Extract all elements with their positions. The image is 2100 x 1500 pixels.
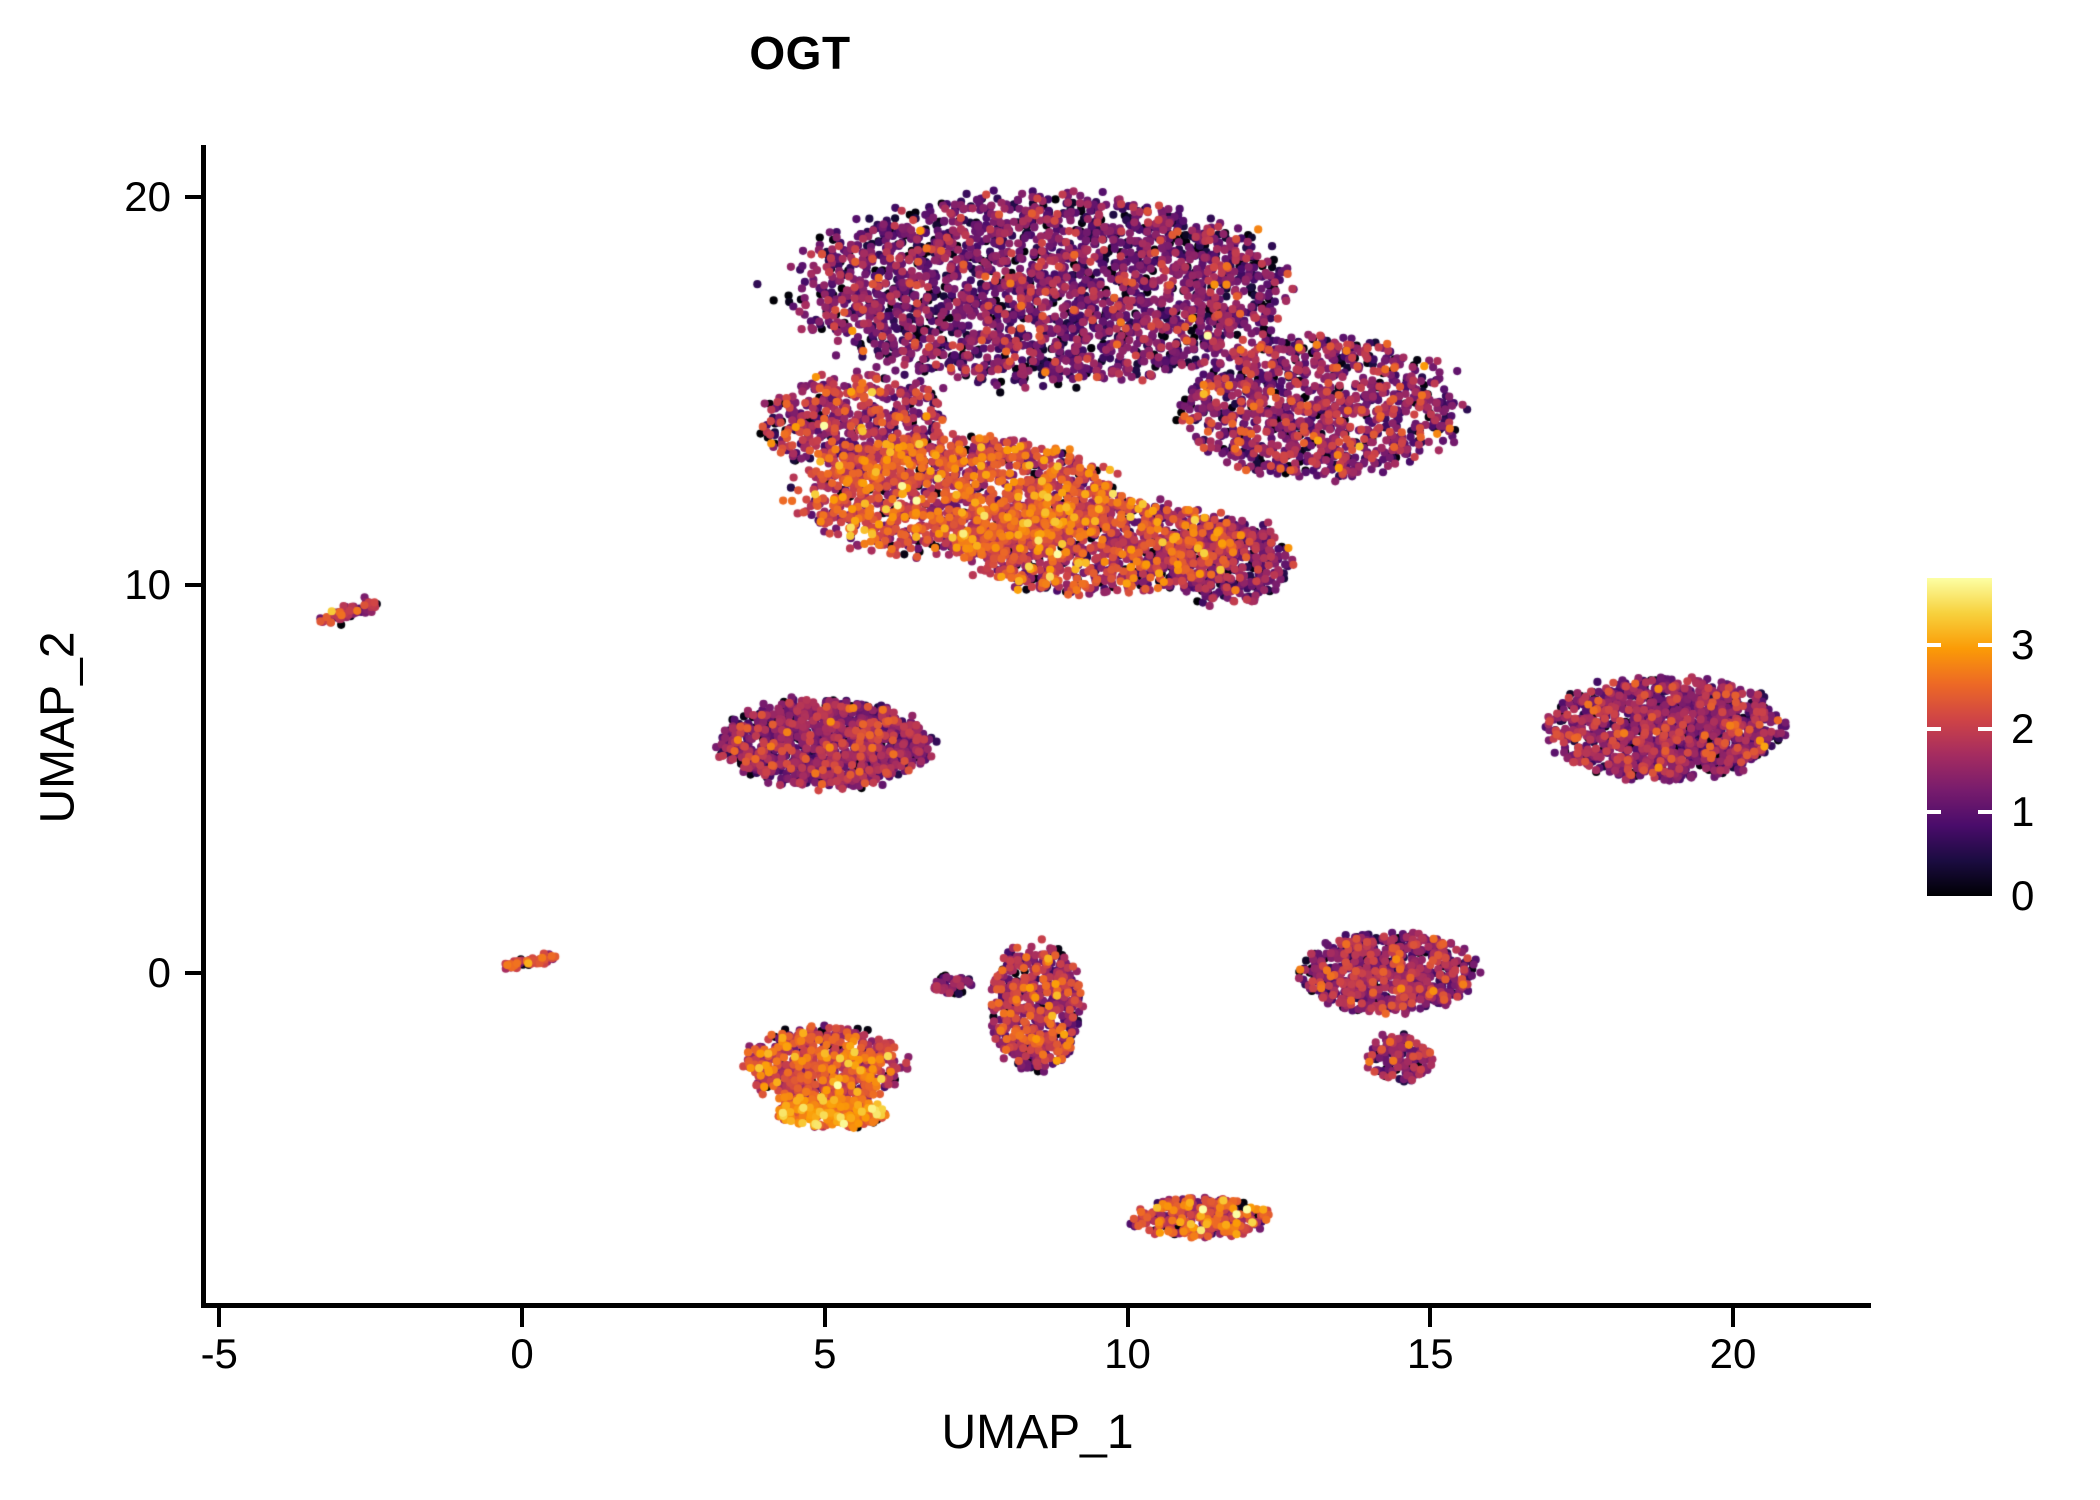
y-tick-mark (185, 195, 204, 199)
x-axis-line (201, 1303, 1871, 1308)
x-tick-mark (823, 1308, 827, 1327)
x-tick-mark (520, 1308, 524, 1327)
colorbar-tick-mark (1978, 810, 1992, 814)
colorbar-tick-mark (1927, 810, 1941, 814)
colorbar-tick-label: 1 (2011, 791, 2034, 833)
colorbar-tick-label: 3 (2011, 624, 2034, 666)
plot-panel (205, 145, 1870, 1305)
y-tick-mark (185, 971, 204, 975)
x-tick-label: 10 (1048, 1333, 1208, 1375)
colorbar-gradient (1927, 578, 1992, 896)
x-tick-label: 15 (1350, 1333, 1510, 1375)
x-tick-mark (1731, 1308, 1735, 1327)
y-axis-title: UMAP_2 (31, 378, 86, 1078)
umap-feature-plot: OGT 01020 -505101520 UMAP_1 UMAP_2 0123 (0, 0, 2100, 1500)
x-axis-title: UMAP_1 (205, 1405, 1870, 1460)
colorbar-tick-mark (1978, 643, 1992, 647)
colorbar-tick-label: 2 (2011, 708, 2034, 750)
page-title: OGT (0, 26, 1600, 80)
x-tick-label: -5 (139, 1333, 299, 1375)
y-axis-line (201, 145, 206, 1307)
x-tick-label: 5 (745, 1333, 905, 1375)
x-tick-mark (1126, 1308, 1130, 1327)
colorbar-tick-mark (1927, 643, 1941, 647)
x-tick-mark (217, 1308, 221, 1327)
y-tick-mark (185, 583, 204, 587)
colorbar-tick-label: 0 (2011, 875, 2034, 917)
colorbar-tick-mark (1927, 727, 1941, 731)
x-tick-label: 0 (442, 1333, 602, 1375)
scatter-plot-canvas (205, 145, 1870, 1305)
x-tick-mark (1428, 1308, 1432, 1327)
colorbar-tick-mark (1978, 727, 1992, 731)
x-tick-label: 20 (1653, 1333, 1813, 1375)
y-tick-label: 20 (51, 176, 171, 218)
